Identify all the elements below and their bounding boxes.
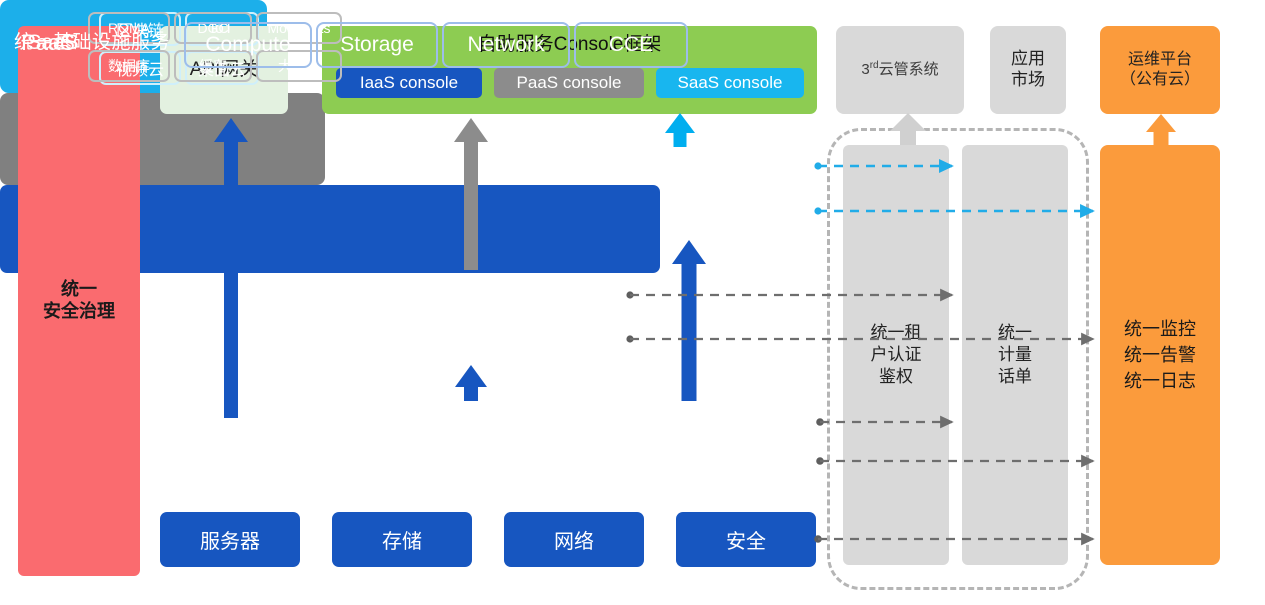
infra-chip-storage-label: Storage [340,33,414,57]
infra-chip-network[interactable]: Network [442,22,570,68]
app-market-line2: 市场 [1011,70,1045,91]
unified-infrastructure-label: 统一基础设施服务 [14,27,170,54]
hardware-box-security[interactable]: 安全 [676,512,816,567]
saas-console-chip[interactable]: SaaS console [656,68,804,98]
api-gateway-up-arrow-icon [214,118,248,418]
infra-to-saas-up-arrow-icon [672,240,706,401]
infra-chip-compute-label: Compute [205,33,290,57]
third-party-suffix: 云管系统 [879,61,939,78]
third-party-cloud-mgmt-label: 3rd云管系统 [861,60,938,79]
third-party-prefix: 3 [861,61,869,78]
hardware-box-server-label: 服务器 [200,525,260,554]
unified-metering-column[interactable]: 统一 计量 话单 [962,145,1068,565]
unified-monitoring-line2: 统一告警 [1124,342,1196,368]
to-ops-platform-up-arrow-icon [1146,114,1176,146]
app-market-line1: 应用 [1011,49,1045,70]
iaas-console-chip[interactable]: IaaS console [336,68,482,98]
security-governance-panel[interactable]: 统一 安全治理 [18,26,140,576]
hardware-box-network[interactable]: 网络 [504,512,644,567]
infra-to-paas-up-arrow-icon [455,365,487,401]
infra-chip-network-label: Network [467,33,544,57]
unified-metering-line1: 统一 [998,322,1032,344]
hardware-box-storage[interactable]: 存储 [332,512,472,567]
unified-tenant-auth-line2: 户认证 [871,344,922,366]
third-party-cloud-mgmt-box[interactable]: 3rd云管系统 [836,26,964,114]
iaas-console-label: IaaS console [360,73,458,94]
infra-chip-cce-label: CCE [609,33,653,57]
to-third-party-cloud-up-arrow-icon [890,113,926,145]
security-governance-line1: 统一 [43,279,115,301]
paas-chip-database[interactable]: 数据库 [88,50,170,82]
paas-chip-database-label: 数据库 [108,56,150,76]
ops-platform-line1: 运维平台 [1120,50,1200,70]
third-party-sup: rd [870,60,879,71]
paas-console-label: PaaS console [517,73,622,94]
saas-console-label: SaaS console [678,73,783,94]
unified-metering-line2: 计量 [998,344,1032,366]
infra-chip-cce[interactable]: CCE [574,22,688,68]
hardware-box-storage-label: 存储 [382,525,422,554]
hardware-box-server[interactable]: 服务器 [160,512,300,567]
paas-console-chip[interactable]: PaaS console [494,68,644,98]
hardware-box-network-label: 网络 [554,525,594,554]
hardware-box-security-label: 安全 [726,525,766,554]
ops-platform-box[interactable]: 运维平台 （公有云） [1100,26,1220,114]
unified-metering-line3: 话单 [998,366,1032,388]
unified-tenant-auth-line1: 统一租 [871,322,922,344]
infra-chip-storage[interactable]: Storage [316,22,438,68]
saas-to-console-up-arrow-icon [665,113,695,147]
unified-monitoring-column[interactable]: 统一监控 统一告警 统一日志 [1100,145,1220,565]
infra-chip-compute[interactable]: Compute [184,22,312,68]
unified-monitoring-line1: 统一监控 [1124,316,1196,342]
security-governance-line2: 安全治理 [43,301,115,323]
paas-to-console-up-arrow-icon [454,118,488,270]
app-market-box[interactable]: 应用 市场 [990,26,1066,114]
unified-tenant-auth-line3: 鉴权 [871,366,922,388]
architecture-diagram: 统一 安全治理 API网关 自助服务Console框架 IaaS console… [0,0,1265,605]
unified-monitoring-line3: 统一日志 [1124,368,1196,394]
unified-tenant-auth-column[interactable]: 统一租 户认证 鉴权 [843,145,949,565]
ops-platform-line2: （公有云） [1120,70,1200,90]
